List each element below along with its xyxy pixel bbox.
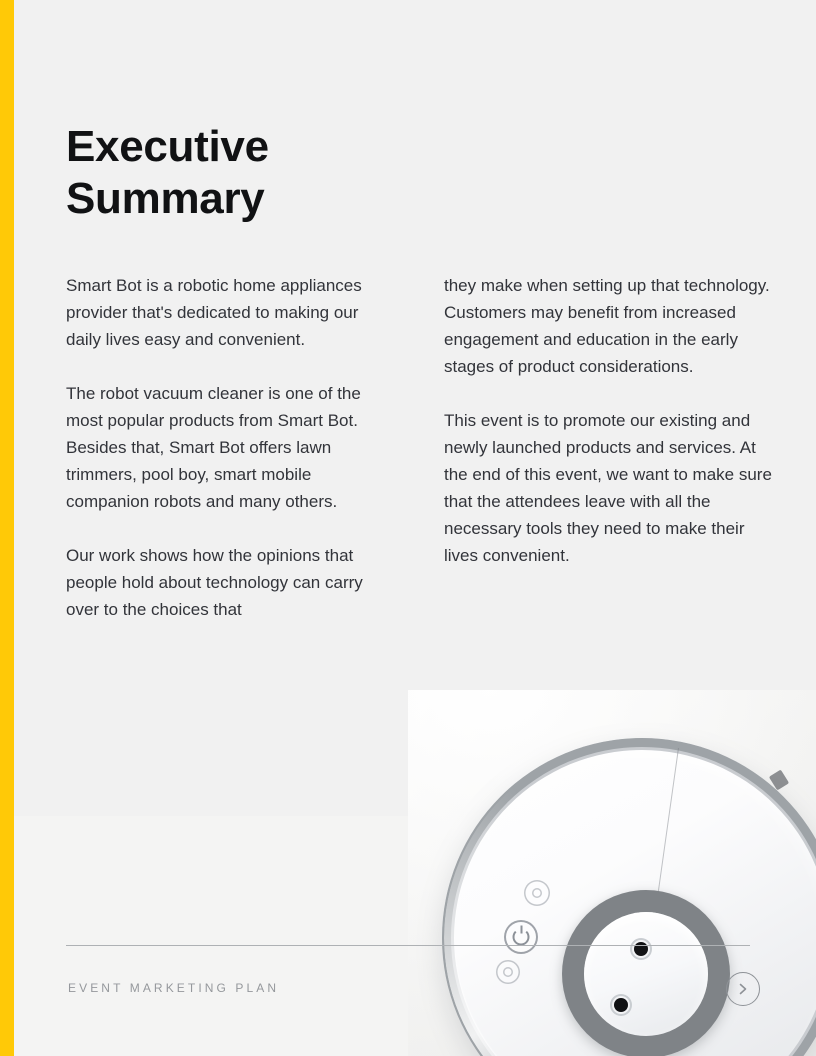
paragraph: Our work shows how the opinions that peo… — [66, 542, 396, 623]
paragraph: Smart Bot is a robotic home appliances p… — [66, 272, 396, 353]
turret-sensor-upper — [630, 938, 652, 960]
turret-sensor-lower — [610, 994, 632, 1016]
turret-inner-disc — [584, 912, 708, 1036]
paragraph: they make when setting up that technolog… — [444, 272, 774, 380]
body-column-right: they make when setting up that technolog… — [444, 272, 774, 569]
footer-divider — [66, 945, 750, 946]
page-title: Executive Summary — [66, 121, 466, 225]
document-page: Executive Summary Smart Bot is a robotic… — [0, 0, 816, 1056]
footer-label: EVENT MARKETING PLAN — [68, 981, 279, 995]
paragraph: This event is to promote our existing an… — [444, 407, 774, 569]
robot-dock-icon — [496, 960, 520, 984]
power-glyph — [513, 929, 530, 946]
robot-lidar-turret — [562, 890, 730, 1056]
paragraph: The robot vacuum cleaner is one of the m… — [66, 380, 396, 515]
accent-stripe-left — [0, 0, 14, 1056]
body-column-left: Smart Bot is a robotic home appliances p… — [66, 272, 396, 623]
robot-indicator-icon — [524, 880, 550, 906]
robot-power-button-icon — [504, 920, 538, 954]
chevron-right-icon — [737, 982, 749, 996]
next-page-button[interactable] — [726, 972, 760, 1006]
